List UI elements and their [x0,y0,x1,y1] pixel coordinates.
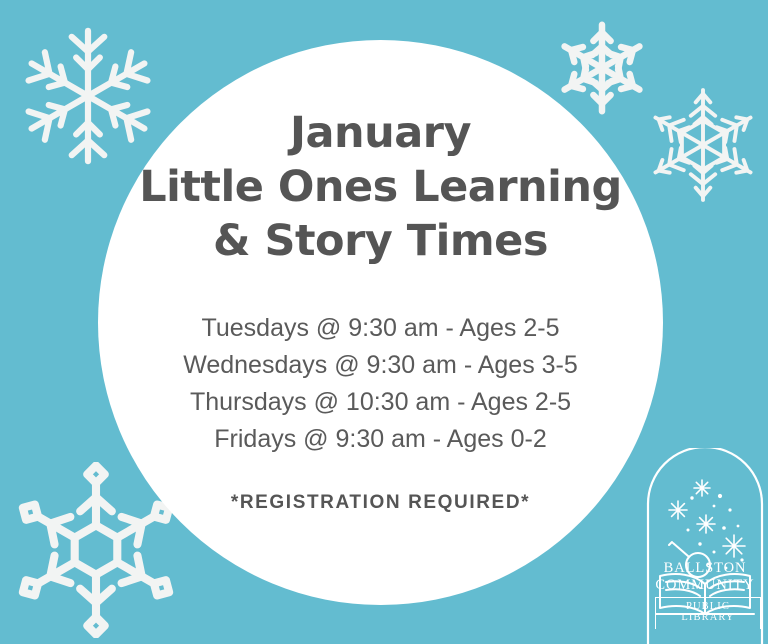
logo-library-name: BALLSTON COMMUNITY [645,560,765,594]
logo-subtitle-badge: PUBLIC LIBRARY [655,597,761,629]
title-line-month: January [98,106,663,160]
logo-name-a: BALLSTON [645,560,765,577]
page-title: January Little Ones Learning & Story Tim… [98,106,663,268]
schedule-item-thursday: Thursdays @ 10:30 am - Ages 2-5 [98,384,663,421]
title-line-program-cont: & Story Times [98,214,663,268]
poster-content: January Little Ones Learning & Story Tim… [98,40,663,605]
logo-subtitle: PUBLIC LIBRARY [681,601,734,623]
schedule-list: Tuesdays @ 9:30 am - Ages 2-5 Wednesdays… [98,310,663,458]
schedule-item-tuesday: Tuesdays @ 9:30 am - Ages 2-5 [98,310,663,347]
schedule-item-wednesday: Wednesdays @ 9:30 am - Ages 3-5 [98,347,663,384]
poster-canvas: January Little Ones Learning & Story Tim… [0,0,768,644]
logo-name-b: COMMUNITY [645,577,765,594]
registration-note: *REGISTRATION REQUIRED* [98,492,663,514]
schedule-item-friday: Fridays @ 9:30 am - Ages 0-2 [98,421,663,458]
title-line-program: Little Ones Learning [98,160,663,214]
